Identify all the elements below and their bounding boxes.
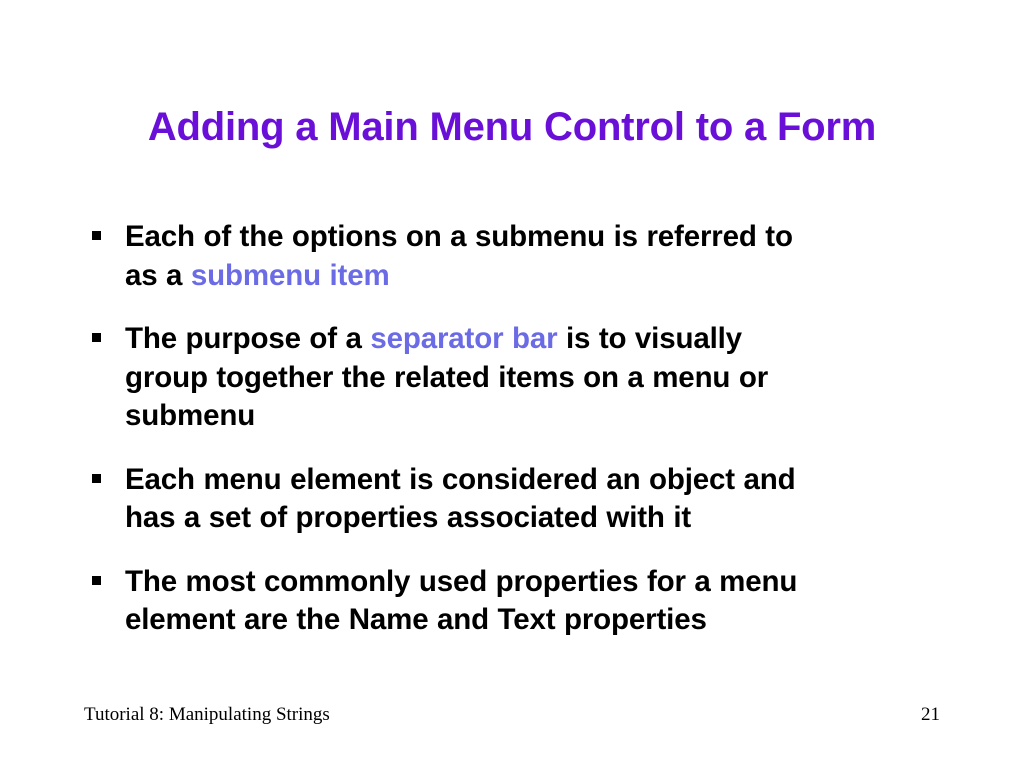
bullet-item: The most commonly used properties for a … bbox=[84, 563, 944, 640]
square-bullet-icon bbox=[92, 474, 101, 483]
bullet-item: Each menu element is considered an objec… bbox=[84, 461, 944, 538]
bullet-line: Each menu element is considered an objec… bbox=[125, 463, 796, 496]
square-bullet-icon bbox=[92, 231, 101, 240]
bullet-text: Each of the options on a submenu is refe… bbox=[125, 218, 944, 295]
bullet-item: The purpose of a separator bar is to vis… bbox=[84, 320, 944, 436]
bullet-line: The most commonly used properties for a … bbox=[125, 565, 797, 598]
square-bullet-icon bbox=[92, 576, 101, 585]
bullet-highlight-term: separator bar bbox=[370, 322, 557, 355]
bullet-text: Each menu element is considered an objec… bbox=[125, 461, 944, 538]
presentation-slide: Adding a Main Menu Control to a Form Eac… bbox=[0, 0, 1024, 768]
bullet-line: has a set of properties associated with … bbox=[125, 501, 691, 534]
bullet-item: Each of the options on a submenu is refe… bbox=[84, 218, 944, 295]
footer-page-number: 21 bbox=[860, 703, 940, 726]
bullet-line: element are the Name and Text properties bbox=[125, 603, 707, 636]
footer-tutorial-label: Tutorial 8: Manipulating Strings bbox=[84, 703, 330, 726]
bullet-line: submenu bbox=[125, 399, 255, 432]
slide-body-bullet-list: Each of the options on a submenu is refe… bbox=[84, 218, 944, 640]
bullet-text-segment: as a bbox=[125, 259, 191, 292]
bullet-text-segment: The purpose of a bbox=[125, 322, 370, 355]
square-bullet-icon bbox=[92, 333, 101, 342]
bullet-highlight-term: submenu item bbox=[191, 259, 390, 292]
bullet-line: The purpose of a separator bar is to vis… bbox=[125, 322, 742, 355]
bullet-text-segment: is to visually bbox=[557, 322, 742, 355]
bullet-line: Each of the options on a submenu is refe… bbox=[125, 220, 793, 253]
bullet-line: as a submenu item bbox=[125, 259, 390, 292]
bullet-text: The purpose of a separator bar is to vis… bbox=[125, 320, 944, 436]
slide-title: Adding a Main Menu Control to a Form bbox=[60, 103, 964, 151]
bullet-line: group together the related items on a me… bbox=[125, 361, 768, 394]
bullet-text: The most commonly used properties for a … bbox=[125, 563, 944, 640]
